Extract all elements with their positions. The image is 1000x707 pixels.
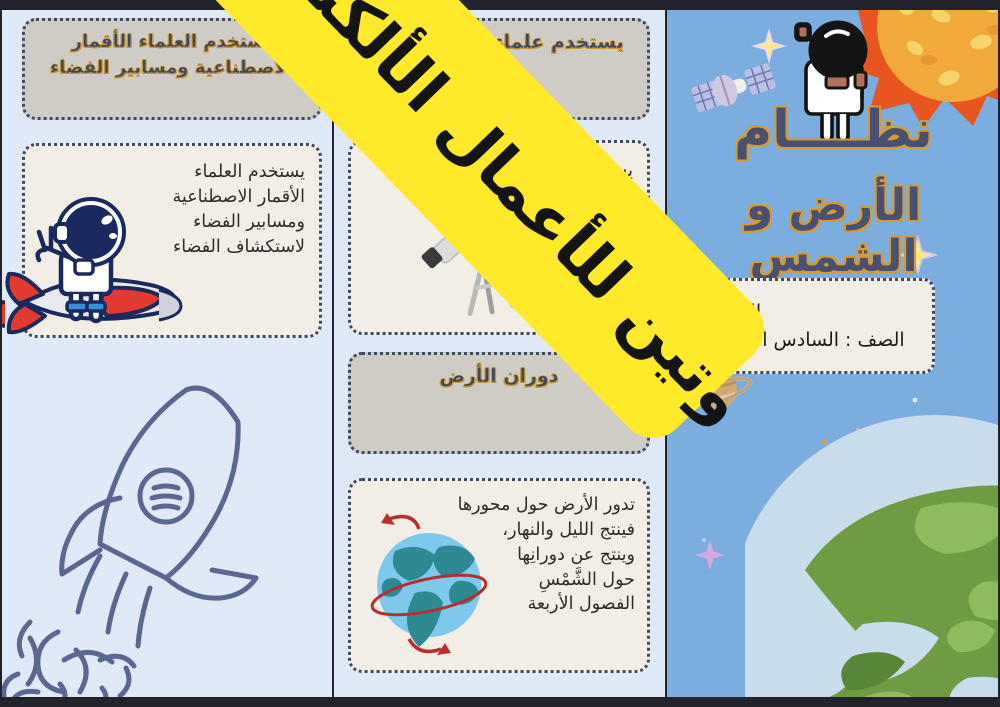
earth-globe-icon bbox=[745, 410, 1000, 707]
left-section1-body-card: يستخدم العلماء الأقمار الاصطناعية ومسابي… bbox=[22, 143, 322, 338]
middle-section2-line: الفصول الأربعة bbox=[457, 592, 635, 617]
middle-section2-body-card: تدور الأرض حول محورها فينتج الليل والنها… bbox=[348, 478, 650, 673]
rocket-doodle-icon bbox=[0, 368, 334, 707]
page-edge-top bbox=[0, 0, 1000, 10]
middle-section2-line: تدور الأرض حول محورها bbox=[457, 493, 635, 518]
page-edge-bottom bbox=[0, 697, 1000, 707]
left-panel: يستخدم العلماء الأقمار الاصطناعية ومسابي… bbox=[0, 0, 334, 707]
astronaut-rocket-icon bbox=[0, 194, 189, 344]
page-edge-left bbox=[0, 0, 2, 707]
middle-section2-body-text: تدور الأرض حول محورها فينتج الليل والنها… bbox=[457, 493, 635, 617]
middle-section2-line: وينتج عن دورانِها bbox=[457, 543, 635, 568]
middle-section2-line: حول الشَّمْسِ bbox=[457, 568, 635, 593]
brochure-canvas: نظــــام الأرض و الشمس الأسم : الصف : ال… bbox=[0, 0, 1000, 707]
middle-section2-line: فينتج الليل والنهار، bbox=[457, 518, 635, 543]
